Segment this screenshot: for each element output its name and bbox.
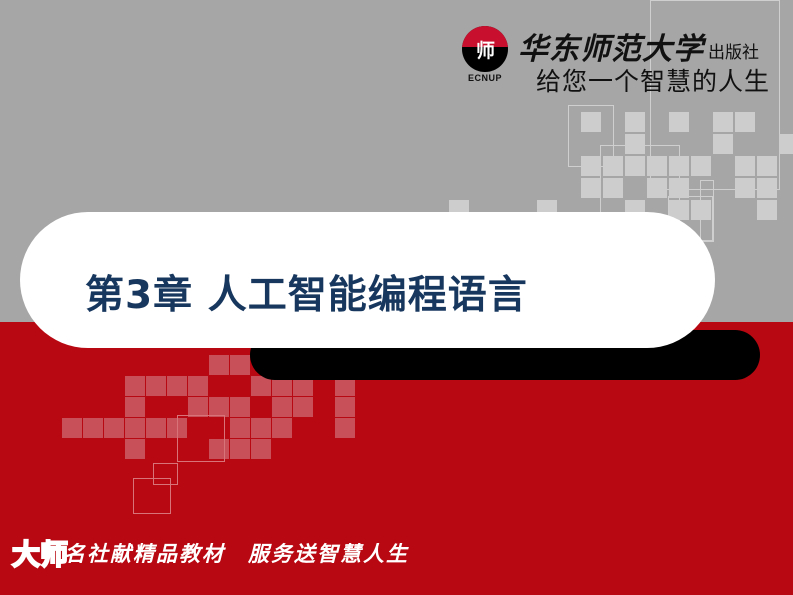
mosaic-square [293,397,313,417]
mosaic-square [603,178,623,198]
mosaic-square [335,418,355,438]
emblem-glyph: 师 [462,26,508,72]
mosaic-square [125,376,145,396]
mosaic-square [209,397,229,417]
mosaic-square [125,439,145,459]
mosaic-square [647,178,667,198]
mosaic-square [625,112,645,132]
mosaic-square [251,439,271,459]
mosaic-square [335,397,355,417]
mosaic-square [188,397,208,417]
mosaic-square [669,112,689,132]
chapter-title: 第3章 人工智能编程语言 [85,264,528,320]
mosaic-square [581,112,601,132]
mosaic-square [779,134,793,154]
mosaic-square [625,134,645,154]
mosaic-square [713,134,733,154]
mosaic-square [735,156,755,176]
mosaic-square [735,178,755,198]
mosaic-square [603,156,623,176]
mosaic-square [230,439,250,459]
mosaic-square [581,178,601,198]
mosaic-square [669,156,689,176]
mosaic-square [104,418,124,438]
ecnup-label: ECNUP [462,73,508,83]
publisher-slogan: 给您一个智慧的人生 [536,62,770,98]
mosaic-square [757,178,777,198]
mosaic-square [125,397,145,417]
decorative-outline-rect [177,415,225,462]
mosaic-square [272,397,292,417]
mosaic-square [713,112,733,132]
mosaic-square [647,156,667,176]
footer-tagline: 名社献精品教材 服务送智慧人生 [64,538,409,568]
mosaic-square [581,156,601,176]
mosaic-square [209,355,229,375]
mosaic-square [188,376,208,396]
mosaic-square [691,156,711,176]
mosaic-square [167,376,187,396]
ecnup-emblem-icon: 师 [462,26,508,72]
mosaic-square [251,418,271,438]
mosaic-square [230,355,250,375]
footer-brand-mark: 大师 [12,536,60,574]
mosaic-square [83,418,103,438]
mosaic-square [625,156,645,176]
publisher-suffix: 出版社 [708,38,759,63]
mosaic-square [146,376,166,396]
publisher-logo-block: 师 ECNUP 华东师范大学 出版社 给您一个智慧的人生 [462,24,782,100]
mosaic-square [62,418,82,438]
mosaic-square [272,418,292,438]
mosaic-square [757,156,777,176]
mosaic-square [691,200,711,220]
mosaic-square [735,112,755,132]
mosaic-square [230,397,250,417]
decorative-outline-rect [133,478,171,514]
slide-canvas: 师 ECNUP 华东师范大学 出版社 给您一个智慧的人生 第3章 人工智能编程语… [0,0,793,595]
mosaic-square [230,418,250,438]
mosaic-square [125,418,145,438]
mosaic-square [669,178,689,198]
mosaic-square [146,418,166,438]
mosaic-square [757,200,777,220]
